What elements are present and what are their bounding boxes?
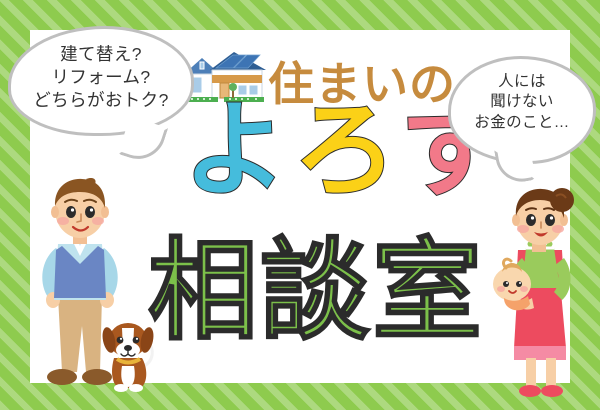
promo-banner: 住まいの よろず 相談室 建て替え? リフォーム? どちらがおトク? 人には 聞… — [0, 0, 600, 410]
bubble-left-line-1: 建て替え? — [11, 43, 191, 66]
question-bubble-right: 人には 聞けない お金のこと… — [448, 56, 596, 164]
bubble-right-line-2: 聞けない — [451, 92, 593, 112]
title-char-yo: よ — [183, 89, 293, 211]
bubble-right-line-3: お金のこと… — [451, 113, 593, 133]
page-title-line3: 相談室 — [148, 236, 484, 346]
title-char-ro: ろ — [293, 89, 403, 211]
bubble-left-line-2: リフォーム? — [11, 66, 191, 89]
question-bubble-left: 建て替え? リフォーム? どちらがおトク? — [8, 26, 194, 136]
sitting-dog-figure — [100, 310, 156, 394]
woman-holding-baby-figure — [480, 188, 580, 404]
bubble-right-line-1: 人には — [451, 72, 593, 92]
bubble-left-line-3: どちらがおトク? — [11, 89, 191, 112]
